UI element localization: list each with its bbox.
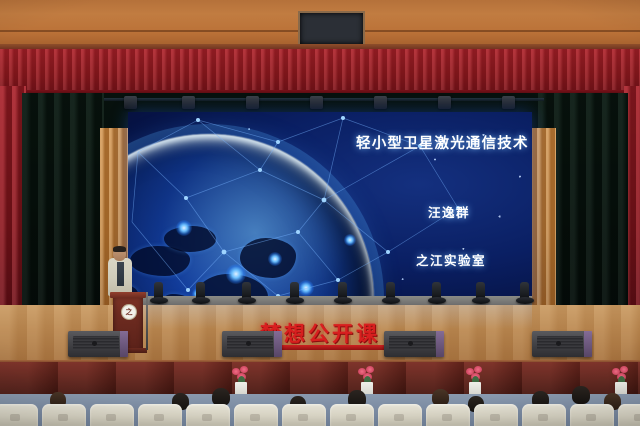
truss-light-icon <box>246 96 259 109</box>
audience-area <box>0 394 640 426</box>
auditorium-scene: 轻小型卫星激光通信技术 汪逸群 之江实验室 梦想公开课 之 <box>0 0 640 426</box>
audience-seat <box>522 404 566 426</box>
truss-light-icon <box>502 96 515 109</box>
audience-seat <box>0 404 38 426</box>
truss-light-icon <box>438 96 451 109</box>
presentation-title: 轻小型卫星激光通信技术 <box>356 132 529 153</box>
floor-monitor-speaker <box>384 331 444 357</box>
red-valance-curtain <box>0 49 640 94</box>
monitor-driver-icon <box>92 341 97 346</box>
audience-seat <box>378 404 422 426</box>
truss-light-icon <box>124 96 137 109</box>
audience-head <box>572 386 590 404</box>
microphone-stand-icon <box>146 292 148 350</box>
audience-seat <box>570 404 614 426</box>
stage-curtain-dark-left <box>22 93 104 321</box>
truss-light-icon <box>182 96 195 109</box>
presentation-speaker-name: 汪逸群 <box>428 202 470 221</box>
audience-seat <box>330 404 374 426</box>
ceiling-vent-icon <box>298 11 365 46</box>
audience-seat <box>186 404 230 426</box>
truss-light-icon <box>310 96 323 109</box>
audience-seat <box>138 404 182 426</box>
presentation-organization: 之江实验室 <box>416 250 486 269</box>
led-presentation-screen: 轻小型卫星激光通信技术 汪逸群 之江实验室 <box>128 112 532 302</box>
monitor-driver-icon <box>408 341 413 346</box>
audience-seat <box>234 404 278 426</box>
audience-seat <box>282 404 326 426</box>
presenter-hair <box>113 246 126 252</box>
audience-seat <box>426 404 470 426</box>
audience-seat <box>618 404 640 426</box>
monitor-side-panel <box>436 331 444 357</box>
audience-seat <box>90 404 134 426</box>
podium-top-surface <box>110 292 146 298</box>
monitor-side-panel <box>120 331 128 357</box>
floor-monitor-speaker <box>532 331 592 357</box>
floor-monitor-speaker <box>68 331 128 357</box>
podium-emblem-icon: 之 <box>121 304 137 320</box>
side-curtain-tan-right <box>528 128 556 318</box>
monitor-driver-icon <box>556 341 561 346</box>
monitor-driver-icon <box>246 341 251 346</box>
overhead-light-truss <box>104 96 544 110</box>
audience-seat <box>474 404 518 426</box>
audience-seat <box>42 404 86 426</box>
ceiling-panel <box>0 0 640 46</box>
truss-bar <box>104 98 544 101</box>
presenter-shirt <box>117 262 124 286</box>
monitor-side-panel <box>274 331 282 357</box>
floor-monitor-speaker <box>222 331 282 357</box>
monitor-side-panel <box>584 331 592 357</box>
truss-light-icon <box>374 96 387 109</box>
